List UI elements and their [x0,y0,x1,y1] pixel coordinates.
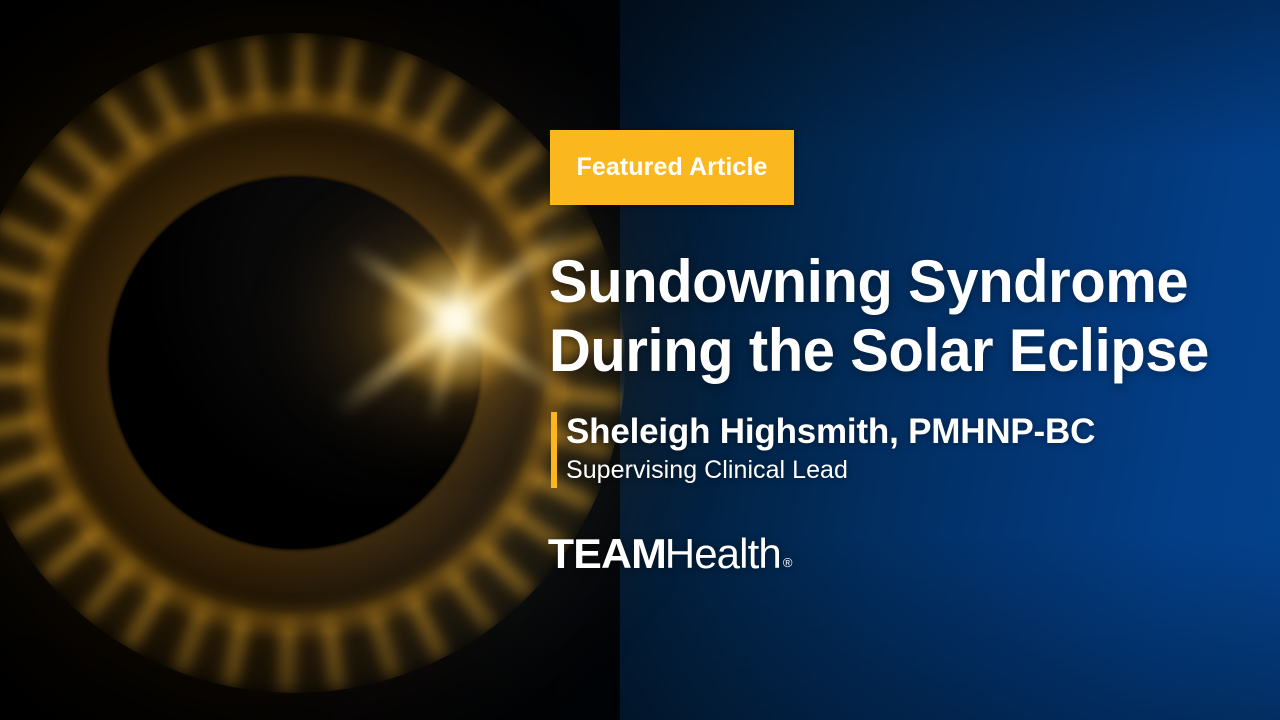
content-column: Featured Article Sundowning Syndrome Dur… [549,0,1249,720]
featured-article-badge: Featured Article [550,130,794,205]
featured-article-graphic: Featured Article Sundowning Syndrome Dur… [0,0,1280,720]
article-title: Sundowning Syndrome During the Solar Ecl… [549,247,1215,385]
author-name: Sheleigh Highsmith, PMHNP-BC [566,410,1095,454]
author-accent-bar [551,412,557,488]
logo-wordmark-bold: TEAM [548,530,666,578]
author-block: Sheleigh Highsmith, PMHNP-BC Supervising… [551,410,1095,490]
featured-article-badge-label: Featured Article [576,153,767,182]
author-role: Supervising Clinical Lead [566,454,1095,486]
article-title-line-2: During the Solar Eclipse [549,316,1215,385]
registered-trademark-icon: ® [783,555,793,570]
teamhealth-logo: TEAM Health ® [549,530,792,578]
article-title-line-1: Sundowning Syndrome [549,247,1215,316]
logo-wordmark-light: Health [665,530,781,578]
